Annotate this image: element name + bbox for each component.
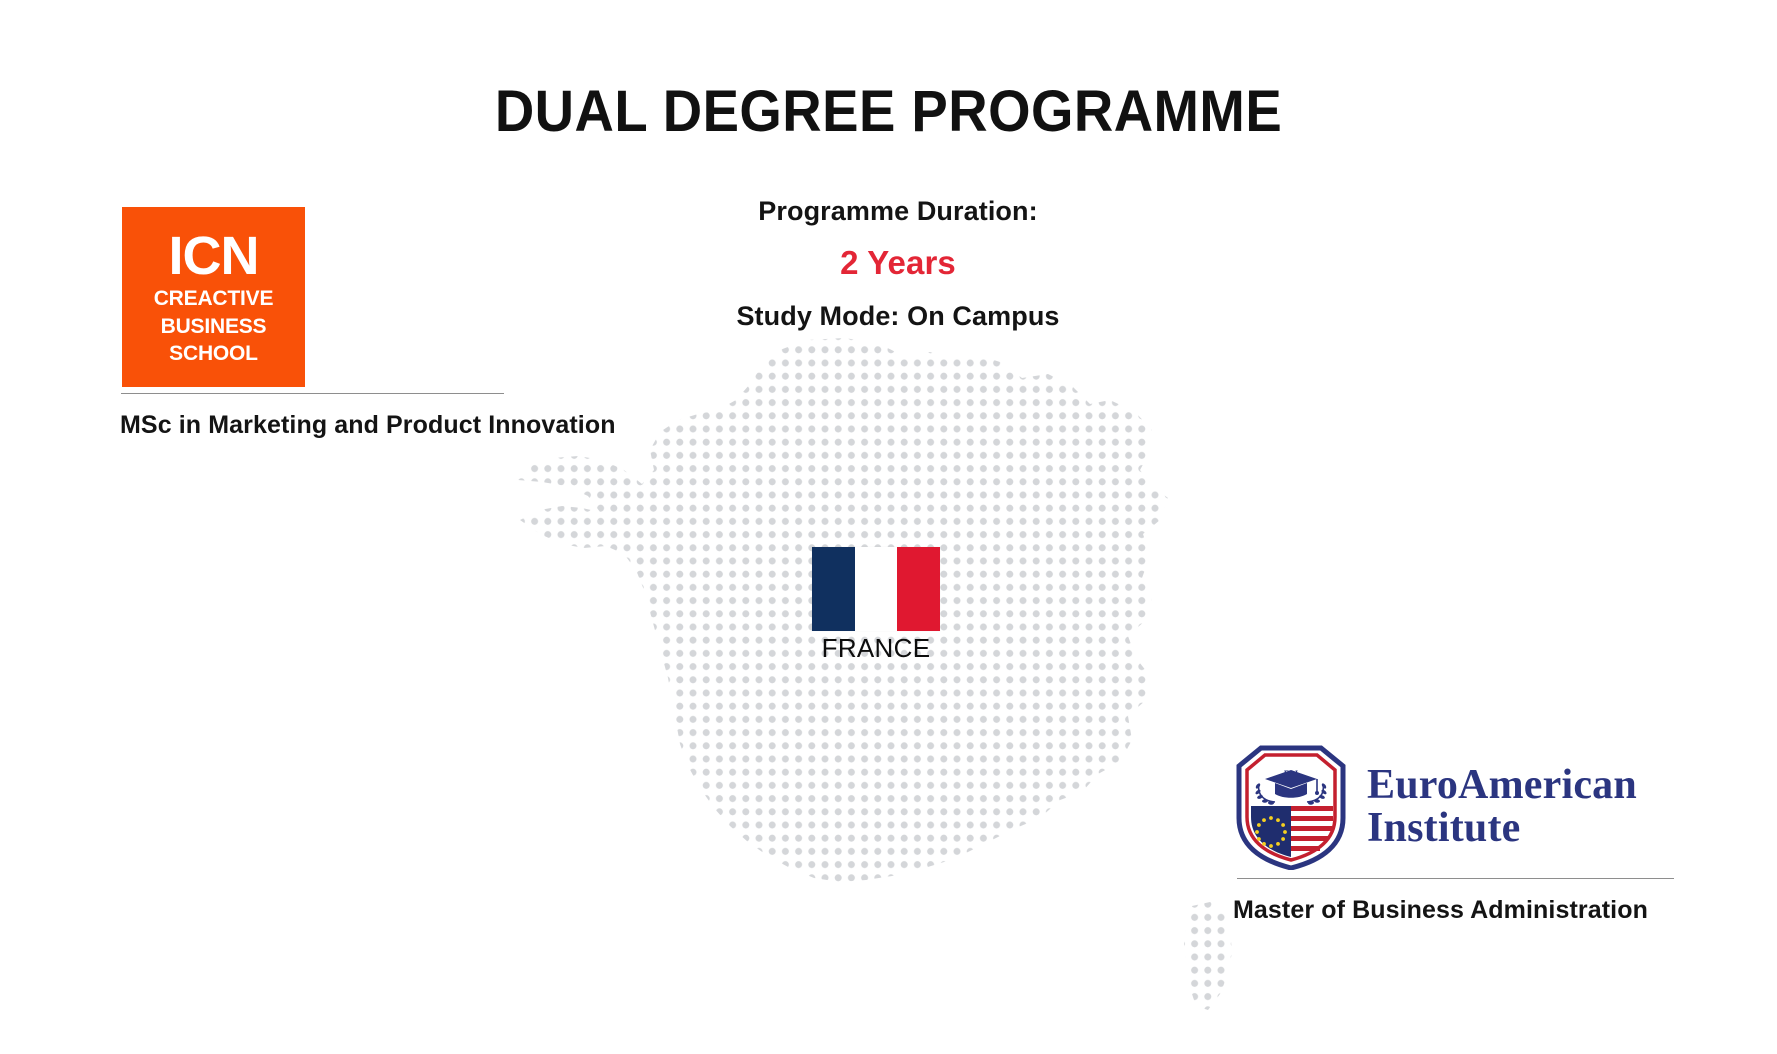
- programme-duration-value: 2 Years: [548, 243, 1248, 283]
- left-partner-degree-caption: MSc in Marketing and Product Innovation: [120, 411, 616, 440]
- flag-band-blue: [812, 547, 855, 631]
- programme-duration-label: Programme Duration:: [548, 195, 1248, 229]
- eai-monogram: EAI: [1284, 769, 1298, 778]
- icn-logo-line1: CREACTIVE: [154, 287, 274, 311]
- right-partner-degree-caption: Master of Business Administration: [1233, 896, 1648, 925]
- study-mode-text: Study Mode: On Campus: [548, 300, 1248, 334]
- left-partner-block: ICN CREACTIVE BUSINESS SCHOOL MSc in Mar…: [122, 207, 305, 387]
- icn-logo-line3: SCHOOL: [169, 342, 258, 366]
- programme-info-block: Programme Duration: 2 Years Study Mode: …: [548, 195, 1248, 334]
- france-flag-icon: [812, 547, 940, 631]
- eai-logo-row: EAI EuroAmerican Institute: [1233, 744, 1637, 870]
- france-marker: FRANCE: [812, 547, 940, 664]
- eai-wordmark-line1: EuroAmerican: [1367, 764, 1637, 807]
- right-partner-block: EAI EuroAmerican Institute Master of Bus…: [1233, 744, 1637, 870]
- right-partner-divider: [1237, 878, 1674, 879]
- eai-wordmark-group: EuroAmerican Institute: [1367, 764, 1637, 850]
- france-marker-label: FRANCE: [812, 633, 940, 664]
- flag-band-white: [855, 547, 898, 631]
- icn-logo-mark: ICN: [169, 229, 259, 283]
- left-partner-divider: [121, 393, 504, 394]
- icn-logo: ICN CREACTIVE BUSINESS SCHOOL: [122, 207, 305, 387]
- eai-wordmark-line2: Institute: [1367, 807, 1637, 850]
- page-title: DUAL DEGREE PROGRAMME: [53, 78, 1723, 145]
- icn-logo-line2: BUSINESS: [161, 315, 267, 339]
- eai-wordmark: EuroAmerican Institute: [1367, 764, 1637, 850]
- flag-band-red: [897, 547, 940, 631]
- dual-degree-programme-graphic: DUAL DEGREE PROGRAMME Programme Duration…: [0, 0, 1777, 1054]
- eai-shield-icon: EAI: [1233, 744, 1349, 870]
